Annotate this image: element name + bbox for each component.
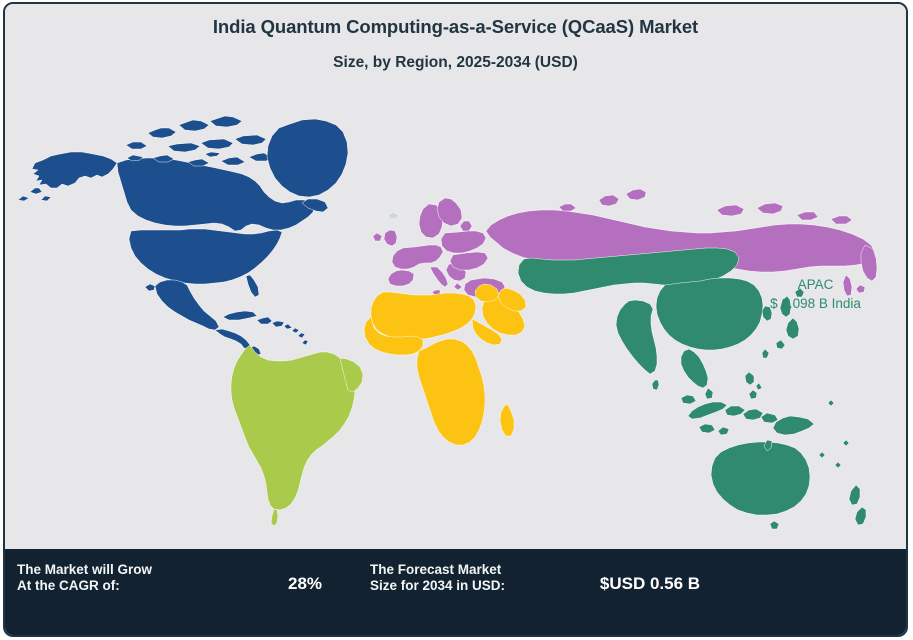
footer-stats-bar: The Market will Grow At the CAGR of: 28%… — [5, 549, 906, 637]
stat-cagr: The Market will Grow At the CAGR of: 28% — [17, 562, 152, 593]
stat-cagr-label: The Market will Grow At the CAGR of: — [17, 562, 152, 593]
world-map — [5, 100, 906, 530]
map-feature-iceland — [388, 212, 399, 219]
page-subtitle: Size, by Region, 2025-2034 (USD) — [5, 54, 906, 72]
map-region-apac[interactable] — [518, 248, 866, 529]
stat-forecast-size-value: $USD 0.56 B — [585, 571, 715, 596]
map-region-latin-america[interactable] — [231, 345, 363, 526]
stat-forecast-size: The Forecast Market Size for 2034 in USD… — [370, 562, 505, 593]
stat-forecast-size-label: The Forecast Market Size for 2034 in USD… — [370, 562, 505, 593]
world-map-svg — [5, 100, 906, 530]
infographic-frame: India Quantum Computing-as-a-Service (QC… — [3, 2, 908, 637]
page-title: India Quantum Computing-as-a-Service (QC… — [5, 16, 906, 38]
map-region-north-america[interactable] — [18, 116, 348, 355]
map-region-mea[interactable] — [364, 284, 526, 445]
stat-cagr-value: 28% — [260, 571, 350, 596]
infographic-stage: India Quantum Computing-as-a-Service (QC… — [5, 4, 906, 635]
